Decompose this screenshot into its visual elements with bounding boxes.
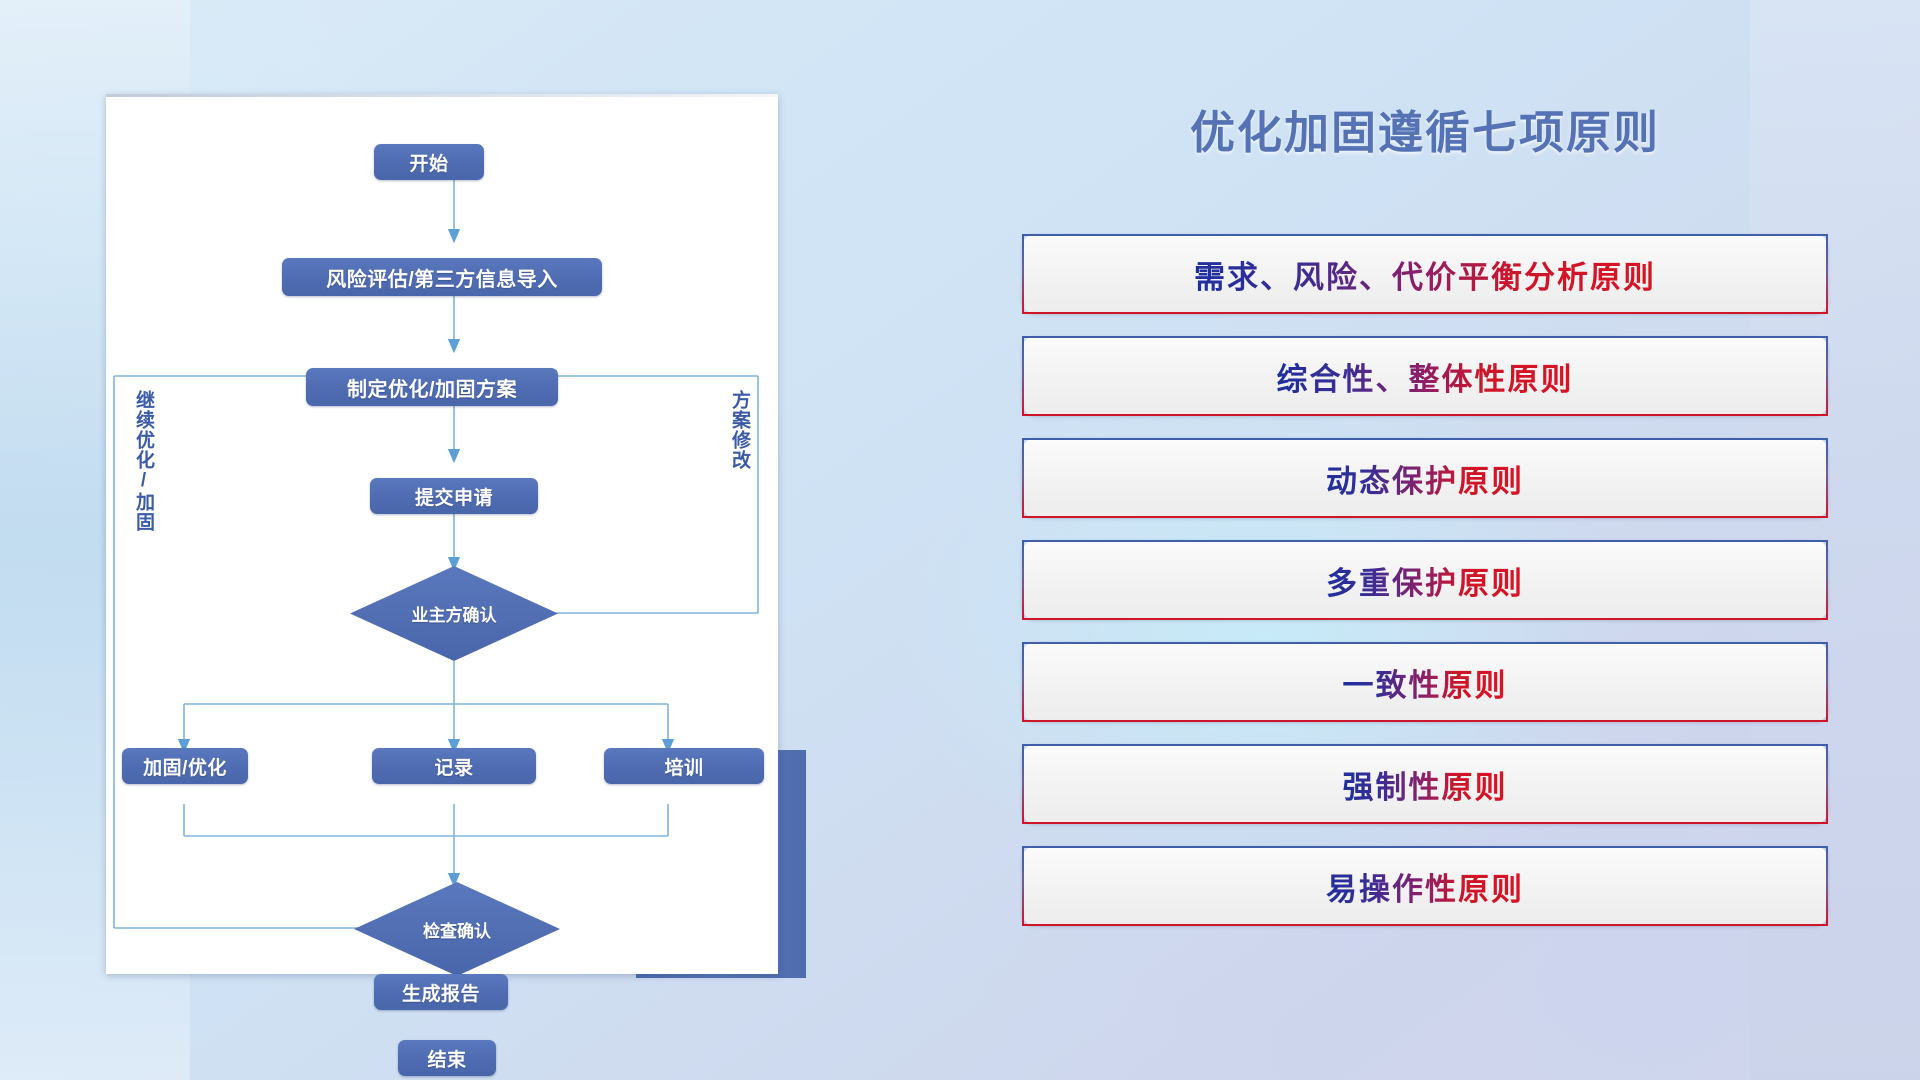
principle-label: 强制性原则 (1343, 762, 1508, 807)
principle-label: 易操作性原则 (1326, 864, 1524, 909)
flowchart-connectors (106, 94, 778, 974)
principle-label: 动态保护原则 (1326, 456, 1524, 501)
flow-node-label: 业主方确认 (412, 601, 497, 626)
flow-node-label: 风险评估/第三方信息导入 (326, 263, 558, 292)
flow-edge-label-left: 继续优化/加固 (130, 390, 157, 532)
flow-node-label: 加固/优化 (143, 753, 227, 780)
flowchart-card: 开始 风险评估/第三方信息导入 制定优化/加固方案 提交申请 业主方确认 加固/… (106, 94, 778, 974)
flow-node-label: 生成报告 (402, 979, 480, 1006)
flow-node-plan[interactable]: 制定优化/加固方案 (306, 368, 558, 406)
principle-item-2[interactable]: 综合性、整体性原则 (1022, 336, 1828, 416)
flow-node-label: 记录 (434, 753, 473, 780)
flow-node-label: 培训 (664, 753, 703, 780)
principle-label: 一致性原则 (1343, 660, 1508, 705)
flow-node-label: 制定优化/加固方案 (347, 373, 517, 402)
flow-node-start[interactable]: 开始 (374, 144, 484, 180)
principle-label: 综合性、整体性原则 (1277, 354, 1574, 399)
principle-item-5[interactable]: 一致性原则 (1022, 642, 1828, 722)
flow-node-training[interactable]: 培训 (604, 748, 764, 784)
flow-node-label: 结束 (427, 1045, 466, 1072)
flow-node-record[interactable]: 记录 (372, 748, 536, 784)
flow-node-reinforce-optimize[interactable]: 加固/优化 (122, 748, 248, 784)
principle-item-3[interactable]: 动态保护原则 (1022, 438, 1828, 518)
principle-item-6[interactable]: 强制性原则 (1022, 744, 1828, 824)
principle-label: 多重保护原则 (1326, 558, 1524, 603)
flow-node-generate-report[interactable]: 生成报告 (374, 974, 508, 1010)
flow-node-label: 开始 (409, 149, 448, 176)
principle-label: 需求、风险、代价平衡分析原则 (1194, 252, 1656, 297)
principles-panel: 优化加固遵循七项原则 需求、风险、代价平衡分析原则 综合性、整体性原则 动态保护… (1010, 96, 1840, 1016)
slide-canvas: 开始 风险评估/第三方信息导入 制定优化/加固方案 提交申请 业主方确认 加固/… (0, 0, 1920, 1080)
flow-node-submit-application[interactable]: 提交申请 (370, 478, 538, 514)
flow-node-label: 提交申请 (415, 483, 493, 510)
principle-item-7[interactable]: 易操作性原则 (1022, 846, 1828, 926)
flow-node-end[interactable]: 结束 (398, 1040, 496, 1076)
principles-list: 需求、风险、代价平衡分析原则 综合性、整体性原则 动态保护原则 多重保护原则 一… (1022, 234, 1828, 948)
flow-node-label: 检查确认 (423, 917, 491, 942)
flow-node-risk-assessment[interactable]: 风险评估/第三方信息导入 (282, 258, 602, 296)
page-title: 优化加固遵循七项原则 (1010, 96, 1840, 161)
principle-item-4[interactable]: 多重保护原则 (1022, 540, 1828, 620)
flow-edge-label-right: 方案修改 (726, 390, 753, 470)
principle-item-1[interactable]: 需求、风险、代价平衡分析原则 (1022, 234, 1828, 314)
